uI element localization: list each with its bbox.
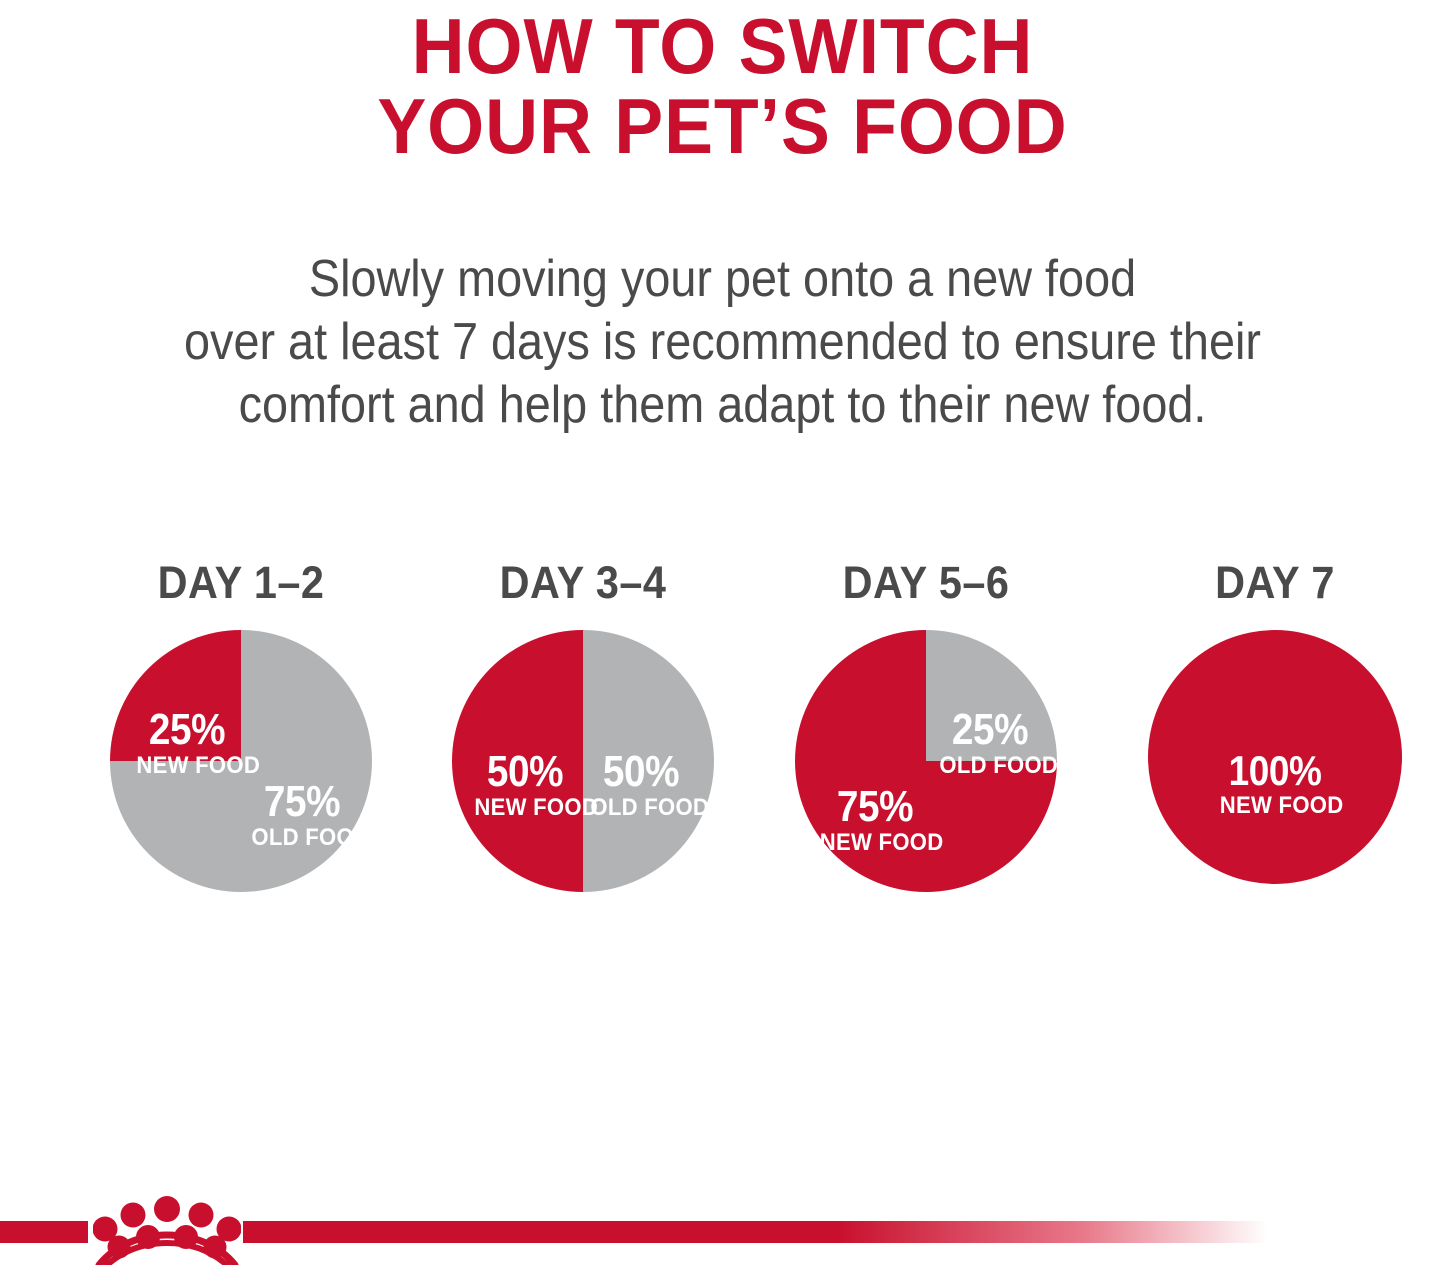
pie-2-new-food-percent: 50% <box>477 750 574 794</box>
pie-1-old-food-percent: 75% <box>254 780 351 824</box>
pie-chart-day-1-2: DAY 1–2 25% NEW FOOD 75% OLD FOOD <box>110 560 372 890</box>
footer-bar-left <box>0 1221 88 1243</box>
pie-1-old-food-label: OLD FOOD <box>251 824 352 852</box>
pie-day-label-4: DAY 7 <box>1158 560 1392 605</box>
pie-chart-day-7: DAY 7 100% NEW FOOD <box>1148 560 1402 890</box>
pie-1-slice-new-food: 25% NEW FOOD <box>132 708 242 780</box>
pie-1-slice-old-food: 75% OLD FOOD <box>247 780 357 852</box>
pie-day-label-3: DAY 5–6 <box>805 560 1046 605</box>
pie-3-old-food-percent: 25% <box>942 708 1039 752</box>
pie-3-old-food-label: OLD FOOD <box>939 752 1040 780</box>
pie-chart-day-5-6: DAY 5–6 25% OLD FOOD 75% NEW FOOD <box>795 560 1057 890</box>
royal-canin-crown-logo-icon <box>93 1185 241 1265</box>
pie-3-new-food-label: NEW FOOD <box>820 829 930 857</box>
pie-1-new-food-label: NEW FOOD <box>136 752 237 780</box>
pie-4-slice-new-food: 100% NEW FOOD <box>1215 750 1335 820</box>
pie-3-new-food-percent: 75% <box>822 785 928 829</box>
pie-2-new-food-label: NEW FOOD <box>474 794 575 822</box>
pie-3-slice-new-food: 75% NEW FOOD <box>815 785 935 857</box>
pie-4-new-food-label: NEW FOOD <box>1220 792 1330 820</box>
pie-day-label-1: DAY 1–2 <box>120 560 361 605</box>
pie-chart-row: DAY 1–2 25% NEW FOOD 75% OLD FOOD DAY 3–… <box>0 0 1445 1265</box>
pie-2-slice-new-food: 50% NEW FOOD <box>470 750 580 822</box>
pie-2-old-food-percent: 50% <box>593 750 690 794</box>
pie-4-new-food-percent: 100% <box>1222 750 1328 792</box>
pie-day-label-2: DAY 3–4 <box>462 560 703 605</box>
pie-1-new-food-percent: 25% <box>139 708 236 752</box>
pie-2-slice-old-food: 50% OLD FOOD <box>586 750 696 822</box>
footer-bar-right <box>243 1221 1268 1243</box>
pie-chart-day-3-4: DAY 3–4 50% NEW FOOD 50% OLD FOOD <box>452 560 714 890</box>
pie-2-old-food-label: OLD FOOD <box>590 794 691 822</box>
pie-3-slice-old-food: 25% OLD FOOD <box>935 708 1045 780</box>
